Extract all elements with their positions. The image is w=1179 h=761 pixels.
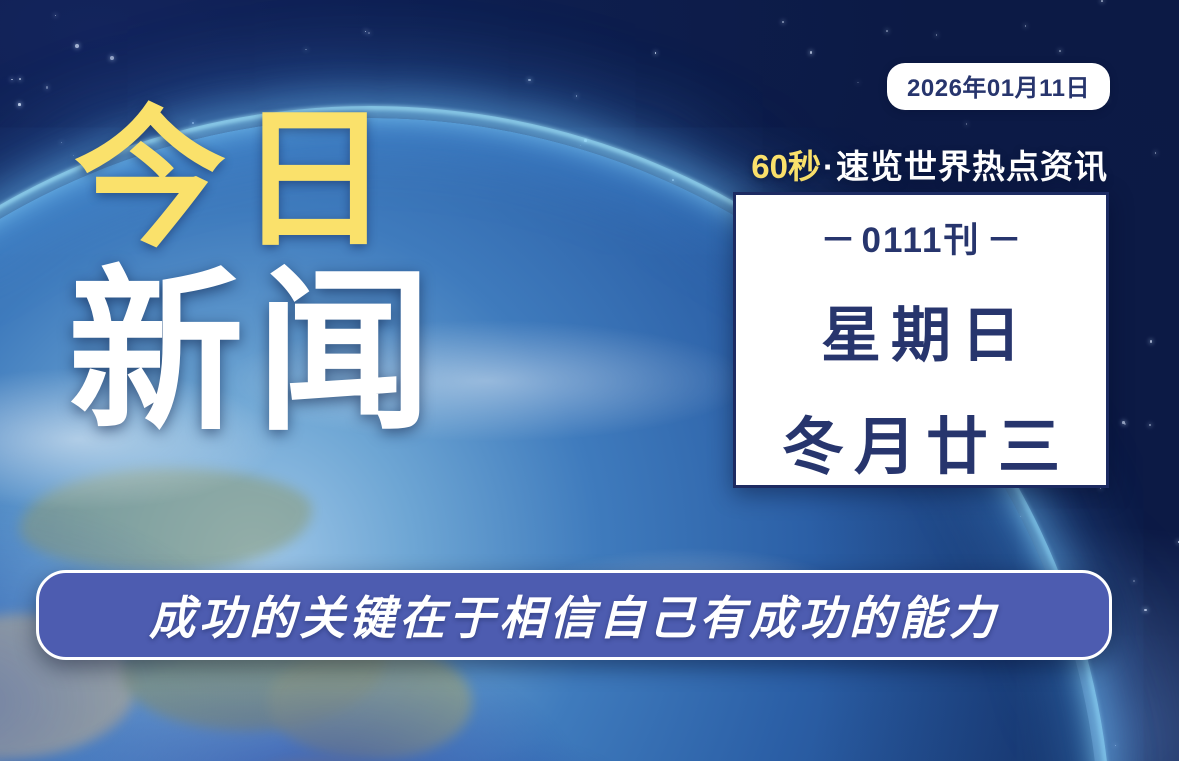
date-badge: 2026年01月11日: [887, 63, 1110, 110]
issue-dash-right: －: [981, 221, 1028, 260]
tagline-highlight: 60秒: [751, 148, 821, 185]
tagline-rest: 速览世界热点资讯: [836, 148, 1108, 185]
issue-number: 0111刊: [862, 221, 981, 260]
quote-text: 成功的关键在于相信自己有成功的能力: [149, 582, 999, 648]
issue-dash-left: －: [814, 221, 861, 260]
tagline: 60秒·速览世界热点资讯: [751, 140, 1108, 188]
tagline-separator: ·: [823, 148, 834, 185]
page-title: 今日 新闻: [74, 106, 444, 439]
info-card: －0111刊－ 星期日 冬月廿三: [733, 192, 1109, 488]
weekday-label: 星期日: [811, 287, 1031, 374]
issue-line: －0111刊－: [814, 212, 1027, 263]
quote-banner: 成功的关键在于相信自己有成功的能力: [36, 570, 1112, 660]
title-line-jinri: 今日: [74, 106, 444, 255]
news-poster: 今日 新闻 2026年01月11日 60秒·速览世界热点资讯 －0111刊－ 星…: [0, 0, 1179, 761]
title-line-xinwen: 新闻: [68, 267, 444, 439]
lunar-date-label: 冬月廿三: [772, 396, 1070, 486]
